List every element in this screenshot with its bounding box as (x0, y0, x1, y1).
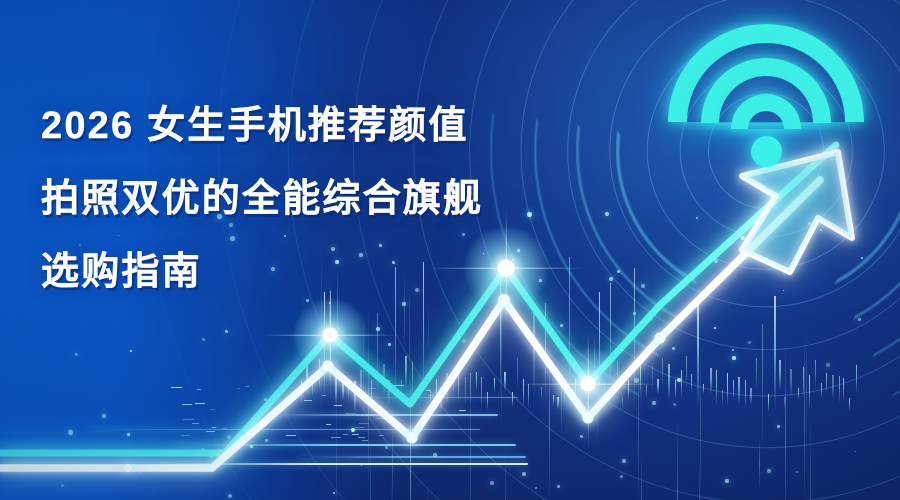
headline-line-1: 2026 女生手机推荐颜值 (41, 107, 561, 145)
headline-line-2: 拍照双优的全能综合旗舰 (41, 180, 561, 218)
promo-banner: 2026 女生手机推荐颜值 拍照双优的全能综合旗舰 选购指南 (0, 0, 900, 500)
wifi-dot (751, 136, 782, 167)
headline-block: 2026 女生手机推荐颜值 拍照双优的全能综合旗舰 选购指南 (41, 107, 561, 291)
headline-line-3: 选购指南 (41, 253, 561, 291)
wifi-signal-icon (666, 24, 866, 174)
